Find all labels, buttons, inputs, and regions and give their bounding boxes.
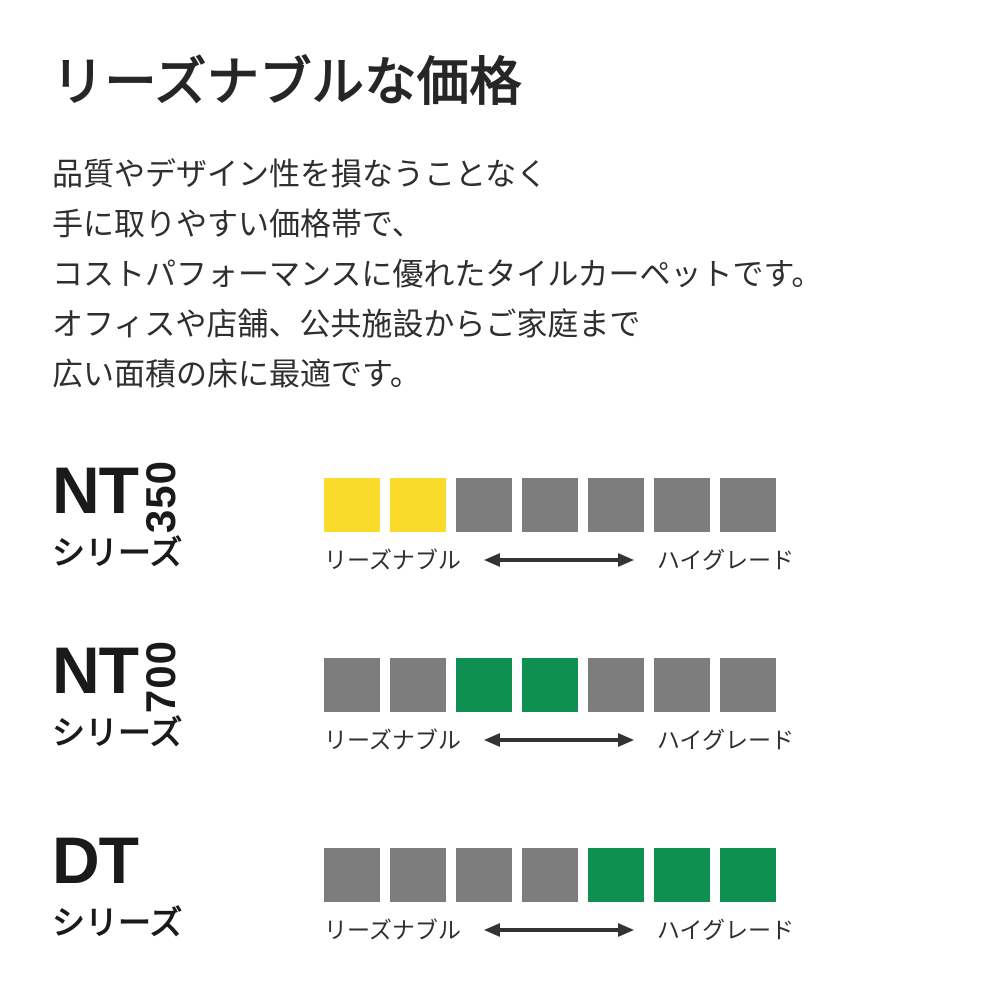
- description-block: 品質やデザイン性を損なうことなく 手に取りやすい価格帯で、 コストパフォーマンス…: [52, 150, 822, 400]
- series-suffix: シリーズ: [52, 706, 182, 754]
- swatch-4: [522, 658, 578, 712]
- series-code: NT: [52, 458, 138, 522]
- series-label-dt: DT シリーズ: [52, 822, 292, 962]
- axis-label-right: ハイグレード: [657, 544, 794, 576]
- swatch-2: [390, 848, 446, 902]
- swatch-6: [654, 658, 710, 712]
- series-suffix: シリーズ: [52, 526, 182, 574]
- swatch-6: [654, 848, 710, 902]
- series-suffix: シリーズ: [52, 896, 182, 944]
- swatch-7: [720, 848, 776, 902]
- swatch-2: [390, 478, 446, 532]
- axis-label-right: ハイグレード: [657, 724, 794, 756]
- scale-axis: リーズナブル ハイグレード: [324, 724, 794, 756]
- series-row: NT 700 シリーズ リーズナブル: [0, 632, 1000, 772]
- swatch-2: [390, 658, 446, 712]
- swatch-6: [654, 478, 710, 532]
- swatch-5: [588, 658, 644, 712]
- double-arrow-horizontal-icon: [484, 919, 634, 941]
- page-root: リーズナブルな価格 品質やデザイン性を損なうことなく 手に取りやすい価格帯で、 …: [0, 0, 1000, 1000]
- series-label-nt350: NT 350 シリーズ: [52, 452, 292, 592]
- swatch-5: [588, 478, 644, 532]
- axis-label-left: リーズナブル: [324, 724, 461, 756]
- swatch-4: [522, 848, 578, 902]
- series-number: 350: [140, 460, 182, 533]
- series-code: NT: [52, 638, 138, 702]
- swatch-5: [588, 848, 644, 902]
- series-row: NT 350 シリーズ リーズナブル: [0, 452, 1000, 592]
- series-code: DT: [52, 828, 138, 892]
- price-scale-nt700: リーズナブル ハイグレード: [324, 632, 794, 772]
- description-line: オフィスや店舗、公共施設からご家庭まで: [52, 300, 822, 350]
- price-scale-nt350: リーズナブル ハイグレード: [324, 452, 794, 592]
- swatch-3: [456, 848, 512, 902]
- axis-label-left: リーズナブル: [324, 544, 461, 576]
- series-name: NT 700: [52, 638, 182, 708]
- series-number: 700: [140, 640, 182, 713]
- series-label-nt700: NT 700 シリーズ: [52, 632, 292, 772]
- swatch-strip: [324, 478, 776, 532]
- swatch-7: [720, 478, 776, 532]
- price-scale-dt: リーズナブル ハイグレード: [324, 822, 794, 962]
- double-arrow-horizontal-icon: [484, 549, 634, 571]
- axis-label-left: リーズナブル: [324, 914, 461, 946]
- swatch-3: [456, 658, 512, 712]
- scale-axis: リーズナブル ハイグレード: [324, 914, 794, 946]
- description-line: 手に取りやすい価格帯で、: [52, 200, 822, 250]
- series-name: NT 350: [52, 458, 182, 528]
- page-title: リーズナブルな価格: [52, 56, 522, 111]
- swatch-7: [720, 658, 776, 712]
- description-line: 広い面積の床に最適です。: [52, 350, 822, 400]
- swatch-strip: [324, 848, 776, 902]
- swatch-1: [324, 478, 380, 532]
- description-line: コストパフォーマンスに優れたタイルカーペットです。: [52, 250, 822, 300]
- swatch-4: [522, 478, 578, 532]
- series-row: DT シリーズ リーズナブル ハ: [0, 822, 1000, 962]
- double-arrow-horizontal-icon: [484, 729, 634, 751]
- swatch-3: [456, 478, 512, 532]
- swatch-1: [324, 848, 380, 902]
- series-name: DT: [52, 828, 138, 898]
- axis-label-right: ハイグレード: [657, 914, 794, 946]
- swatch-strip: [324, 658, 776, 712]
- description-line: 品質やデザイン性を損なうことなく: [52, 150, 822, 200]
- swatch-1: [324, 658, 380, 712]
- scale-axis: リーズナブル ハイグレード: [324, 544, 794, 576]
